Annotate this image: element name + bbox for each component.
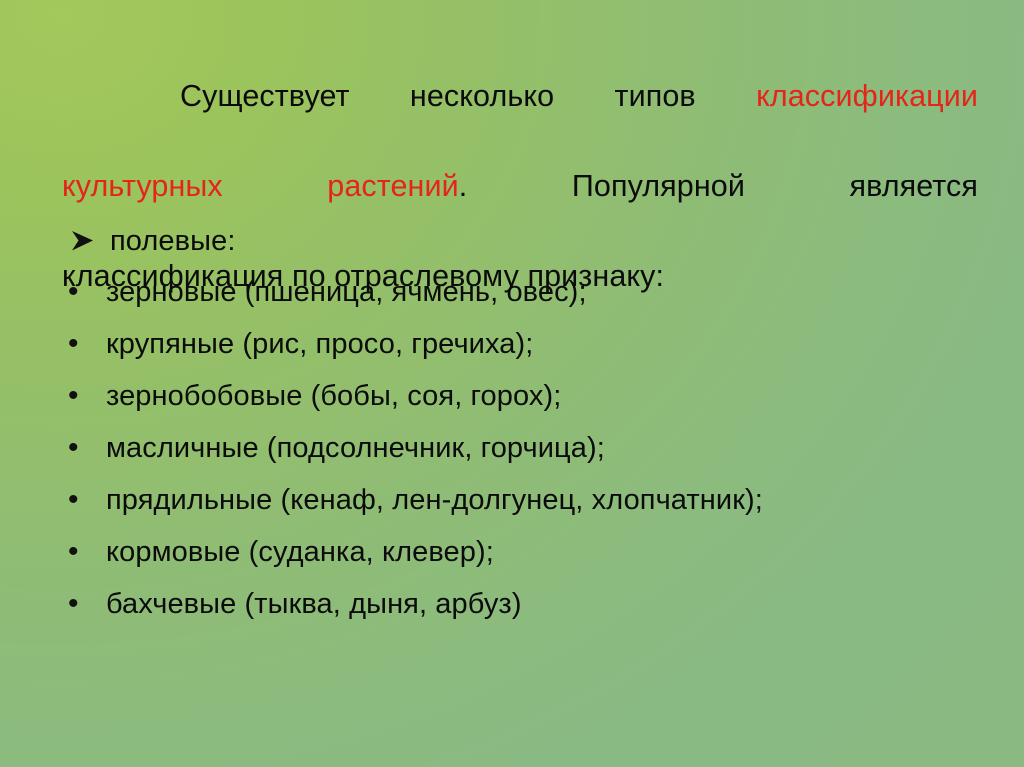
list-item-label: бахчевые (тыква, дыня, арбуз): [106, 578, 522, 630]
list-item-heading-label: полевые:: [110, 216, 235, 266]
list-item: • бахчевые (тыква, дыня, арбуз): [62, 578, 992, 630]
intro-highlight-cultivated-plants: культурных растений: [62, 169, 459, 203]
arrowhead-bullet-icon: [70, 216, 114, 266]
round-bullet-icon: •: [68, 578, 112, 630]
list-item-label: крупяные (рис, просо, гречиха);: [106, 318, 533, 370]
list-item-label: масличные (подсолнечник, горчица);: [106, 422, 605, 474]
intro-line-1-plain: Существует несколько типов: [180, 79, 756, 113]
list-item: • прядильные (кенаф, лен-долгунец, хлопч…: [62, 474, 992, 526]
round-bullet-icon: •: [68, 422, 112, 474]
list-item: • кормовые (суданка, клевер);: [62, 526, 992, 578]
intro-line-2-plain: Популярной является: [467, 169, 978, 203]
list-item: • зерновые (пшеница, ячмень, овес);: [62, 266, 992, 318]
list-item-label: прядильные (кенаф, лен-долгунец, хлопчат…: [106, 474, 763, 526]
list-item: • зернобобовые (бобы, соя, горох);: [62, 370, 992, 422]
list-item-label: зерновые (пшеница, ячмень, овес);: [106, 266, 587, 318]
slide-canvas: Существует несколько типов классификации…: [0, 0, 1024, 767]
list-item-label: кормовые (суданка, клевер);: [106, 526, 494, 578]
round-bullet-icon: •: [68, 370, 112, 422]
round-bullet-icon: •: [68, 526, 112, 578]
round-bullet-icon: •: [68, 266, 112, 318]
list-item: • крупяные (рис, просо, гречиха);: [62, 318, 992, 370]
list-item-label: зернобобовые (бобы, соя, горох);: [106, 370, 561, 422]
list-item: • масличные (подсолнечник, горчица);: [62, 422, 992, 474]
list-item-heading: полевые:: [62, 216, 992, 266]
intro-highlight-classification: классификации: [756, 79, 978, 113]
round-bullet-icon: •: [68, 474, 112, 526]
round-bullet-icon: •: [68, 318, 112, 370]
classification-list: полевые: • зерновые (пшеница, ячмень, ов…: [62, 216, 992, 630]
intro-line-1: Существует несколько типов классификации: [62, 74, 978, 164]
